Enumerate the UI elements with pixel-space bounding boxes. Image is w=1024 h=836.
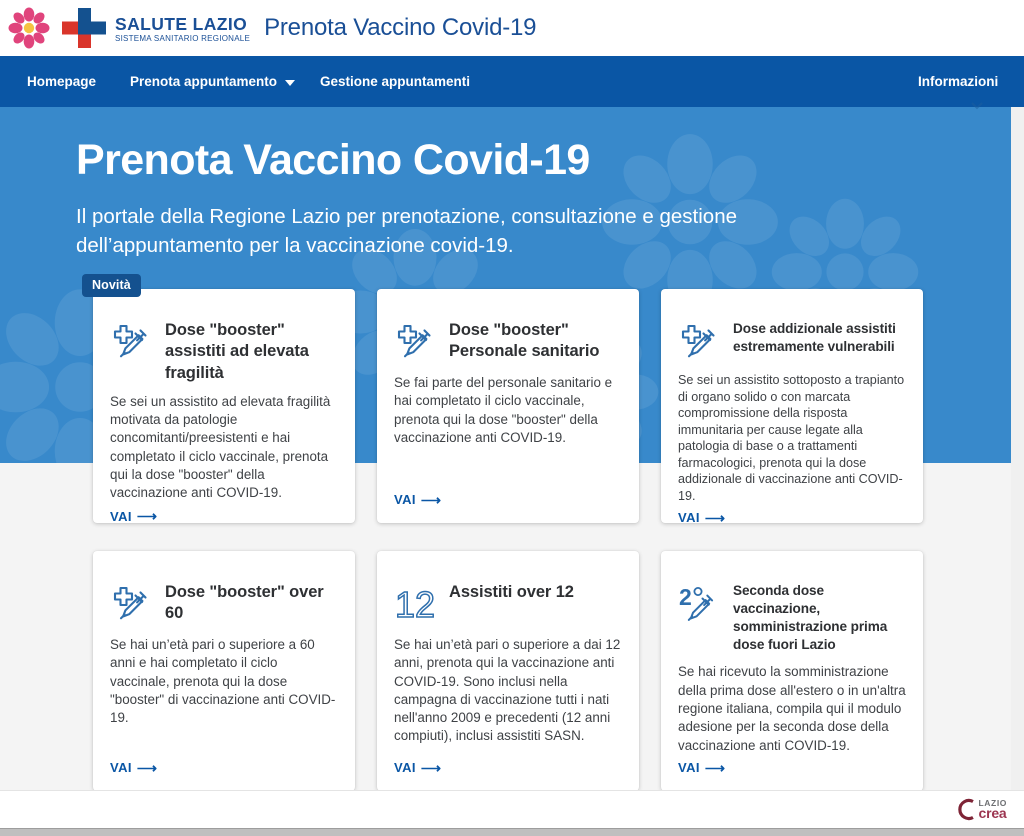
arrow-right-icon: ⟶	[421, 761, 441, 775]
site-header: SALUTE LAZIO SISTEMA SANITARIO REGIONALE…	[0, 0, 1024, 56]
card-title: Assistiti over 12	[449, 581, 574, 603]
page-title: Prenota Vaccino Covid-19	[264, 14, 536, 42]
card-description: Se fai parte del personale sanitario e h…	[394, 374, 622, 507]
card-link-label: VAI	[110, 760, 132, 775]
card-dose-addizionale-vulnerabili[interactable]: Dose addizionale assistiti estremamente …	[661, 289, 923, 523]
window-bottom-strip	[0, 828, 1024, 836]
card-header: Dose addizionale assistiti estremamente …	[678, 319, 906, 365]
arrow-right-icon: ⟶	[137, 761, 157, 775]
card-link-vai[interactable]: VAI ⟶	[110, 509, 338, 524]
chevron-down-icon	[285, 80, 295, 86]
arrow-right-icon: ⟶	[705, 511, 725, 525]
card-assistiti-over-12[interactable]: 12 Assistiti over 12 Se hai un’età pari …	[377, 551, 639, 791]
arrow-right-icon: ⟶	[137, 509, 157, 523]
scroll-down-arrow-icon[interactable]	[971, 98, 983, 110]
card-link-label: VAI	[678, 510, 700, 525]
nav-item-homepage[interactable]: Homepage	[27, 74, 96, 89]
card-description: Se hai un’età pari o superiore a dai 12 …	[394, 636, 622, 754]
card-header: Dose "booster" Personale sanitario	[394, 319, 622, 365]
card-title: Dose addizionale assistiti estremamente …	[733, 319, 906, 356]
card-description: Se sei un assistito ad elevata fragilità…	[110, 393, 338, 503]
card-link-vai[interactable]: VAI ⟶	[394, 760, 622, 775]
laziocrea-text: LAZIO crea	[979, 799, 1008, 821]
arrow-right-icon: ⟶	[705, 761, 725, 775]
card-header: Dose "booster" over 60	[110, 581, 338, 627]
arrow-right-icon: ⟶	[421, 493, 441, 507]
card-title: Dose "booster" Personale sanitario	[449, 319, 622, 363]
brand-name: SALUTE LAZIO	[115, 15, 250, 33]
hero-subtitle: Il portale della Regione Lazio per preno…	[76, 203, 876, 260]
cross-syringe-icon	[678, 321, 722, 365]
card-header: Dose "booster" assistiti ad elevata frag…	[110, 319, 338, 384]
card-booster-personale-sanitario[interactable]: Dose "booster" Personale sanitario Se fa…	[377, 289, 639, 523]
brand-block: SALUTE LAZIO SISTEMA SANITARIO REGIONALE	[115, 13, 250, 43]
card-link-label: VAI	[678, 760, 700, 775]
number-12-icon: 12	[394, 583, 438, 627]
card-title: Seconda dose vaccinazione, somministrazi…	[733, 581, 906, 654]
right-gutter	[1011, 107, 1024, 790]
card-row-1: Novità Dose "booster" assist	[93, 289, 923, 523]
card-title: Dose "booster" assistiti ad elevata frag…	[165, 319, 338, 384]
card-link-label: VAI	[394, 492, 416, 507]
flower-logo-icon	[8, 7, 50, 49]
nav-item-prenota-appuntamento[interactable]: Prenota appuntamento	[130, 74, 295, 89]
card-link-vai[interactable]: VAI ⟶	[678, 760, 725, 775]
second-dose-syringe-icon: 2	[678, 583, 722, 627]
card-seconda-dose-fuori-lazio[interactable]: 2 Seconda dose vacc	[661, 551, 923, 791]
nav-item-informazioni[interactable]: Informazioni	[918, 74, 998, 89]
main-navbar: Homepage Prenota appuntamento Gestione a…	[0, 56, 1024, 107]
site-footer: LAZIO crea	[0, 790, 1024, 828]
card-row-2: Dose "booster" over 60 Se hai un’età par…	[93, 551, 923, 791]
svg-text:2: 2	[679, 584, 692, 610]
laziocrea-logo[interactable]: LAZIO crea	[955, 798, 1008, 821]
status-badge: Novità	[82, 274, 141, 297]
card-link-label: VAI	[394, 760, 416, 775]
card-grid: Novità Dose "booster" assist	[93, 289, 923, 791]
nav-item-label: Gestione appuntamenti	[320, 74, 470, 89]
cross-syringe-icon	[110, 321, 154, 365]
svg-text:12: 12	[395, 584, 435, 625]
hero-title: Prenota Vaccino Covid-19	[76, 137, 1011, 184]
card-link-vai[interactable]: VAI ⟶	[110, 760, 157, 775]
brand-subtitle: SISTEMA SANITARIO REGIONALE	[115, 34, 250, 43]
cross-syringe-icon	[110, 583, 154, 627]
card-link-vai[interactable]: VAI ⟶	[678, 510, 906, 525]
card-link-label: VAI	[110, 509, 132, 524]
card-booster-over-60[interactable]: Dose "booster" over 60 Se hai un’età par…	[93, 551, 355, 791]
card-header: 12 Assistiti over 12	[394, 581, 622, 627]
card-description: Se hai ricevuto la somministrazione dell…	[678, 663, 906, 775]
nav-item-label: Prenota appuntamento	[130, 74, 277, 89]
nav-item-label: Homepage	[27, 74, 96, 89]
card-link-vai[interactable]: VAI ⟶	[394, 492, 441, 507]
card-booster-fragilita[interactable]: Novità Dose "booster" assist	[93, 289, 355, 523]
laziocrea-crea-label: crea	[979, 806, 1008, 820]
card-description: Se hai un’età pari o superiore a 60 anni…	[110, 636, 338, 775]
card-title: Dose "booster" over 60	[165, 581, 338, 625]
card-header: 2 Seconda dose vacc	[678, 581, 906, 654]
health-cross-icon	[62, 8, 106, 48]
laziocrea-c-icon	[955, 798, 976, 821]
cross-syringe-icon	[394, 321, 438, 365]
nav-item-gestione-appuntamenti[interactable]: Gestione appuntamenti	[320, 74, 470, 89]
hero-content: Prenota Vaccino Covid-19 Il portale dell…	[0, 107, 1011, 260]
card-description: Se sei un assistito sottoposto a trapian…	[678, 372, 906, 504]
page-root: SALUTE LAZIO SISTEMA SANITARIO REGIONALE…	[0, 0, 1024, 836]
nav-item-label: Informazioni	[918, 74, 998, 89]
